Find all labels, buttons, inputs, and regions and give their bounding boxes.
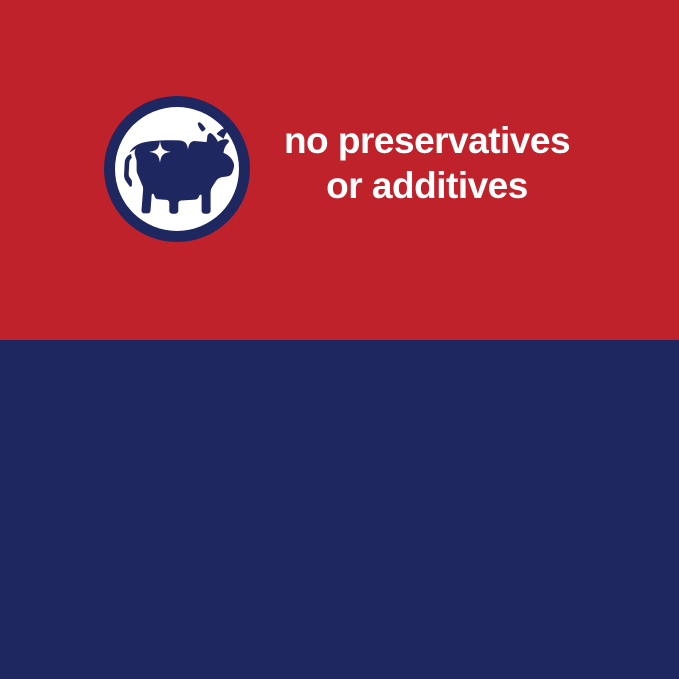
benefit-headline-no-preservatives: no preservatives or additives (262, 118, 592, 208)
benefit-panel-no-preservatives: no preservatives or additives (0, 0, 679, 340)
benefit-panel-digestible: 99% digestible (0, 340, 679, 679)
cow-sparkle-badge-icon (103, 95, 251, 243)
benefits-graphic: no preservatives or additives (0, 0, 679, 679)
